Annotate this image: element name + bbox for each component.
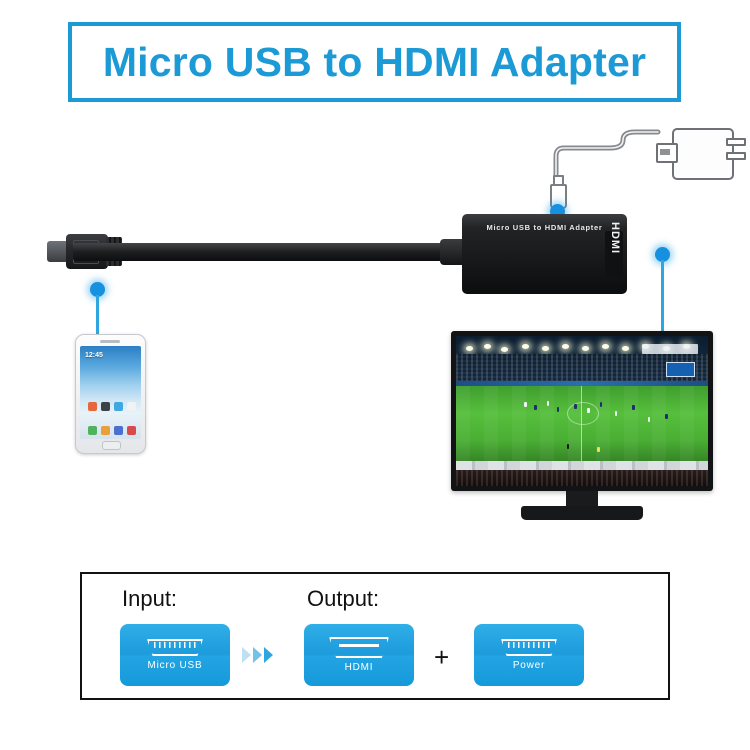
flow-arrows [242, 644, 297, 666]
chevron-right-icon [253, 647, 262, 663]
charger-prong-bottom [726, 152, 746, 160]
charger-prong-top [726, 138, 746, 146]
legend-tile-caption: Power [513, 660, 545, 671]
infographic-canvas: Micro USB to HDMI Adapter Micro USB to H… [0, 0, 750, 750]
tv-screen [456, 336, 708, 486]
title-banner: Micro USB to HDMI Adapter [68, 22, 681, 102]
legend-tile-caption: HDMI [345, 662, 374, 673]
power-plug-connector-icon [550, 175, 563, 205]
legend-tile-caption: Micro USB [148, 660, 203, 671]
hdmi-icon [329, 637, 389, 658]
tv-stand-base [521, 506, 643, 520]
broadcast-channel-logo [666, 362, 696, 378]
adapter-cable [73, 243, 468, 261]
phone-home-button [102, 441, 121, 450]
pitch-centre-circle [567, 402, 599, 425]
phone-earpiece [100, 340, 120, 343]
plus-separator: + [434, 642, 449, 673]
phone-app-icon [88, 402, 97, 411]
chevron-right-icon [242, 647, 251, 663]
phone-dock-icon [88, 426, 97, 435]
micro-usb-icon [501, 639, 557, 656]
phone-dock-icon [127, 426, 136, 435]
adapter-body: Micro USB to HDMI Adapter HDMI [462, 214, 627, 294]
page-title: Micro USB to HDMI Adapter [103, 39, 646, 86]
wall-charger-icon [672, 128, 734, 180]
stadium-crowd-lower [456, 470, 708, 487]
legend-tile-power: Power [474, 624, 584, 686]
charger-usb-port-icon [656, 143, 678, 163]
phone-clock-widget: 12:45 [85, 352, 103, 359]
adapter-printed-label: Micro USB to HDMI Adapter [462, 223, 627, 232]
legend-tile-micro-usb: Micro USB [120, 624, 230, 686]
smartphone: 12:45 [75, 334, 146, 454]
phone-app-icon [114, 402, 123, 411]
broadcast-scorebug [642, 344, 697, 355]
adapter-hdmi-label: HDMI [609, 222, 621, 262]
connection-legend: Input: Output: Micro USB HDMI + Power [80, 572, 670, 700]
callout-line-phone [96, 295, 99, 337]
phone-dock-icon [101, 426, 110, 435]
input-label: Input: [122, 586, 177, 612]
phone-screen: 12:45 [80, 346, 141, 439]
phone-app-icon [101, 402, 110, 411]
phone-dock-icon [114, 426, 123, 435]
legend-tile-hdmi: HDMI [304, 624, 414, 686]
output-label: Output: [307, 586, 379, 612]
callout-line-tv [661, 260, 664, 332]
stadium-advert-boards-bottom [456, 461, 708, 470]
television [451, 331, 713, 491]
micro-usb-icon [147, 639, 203, 656]
phone-app-icon [127, 402, 136, 411]
chevron-right-icon [264, 647, 273, 663]
